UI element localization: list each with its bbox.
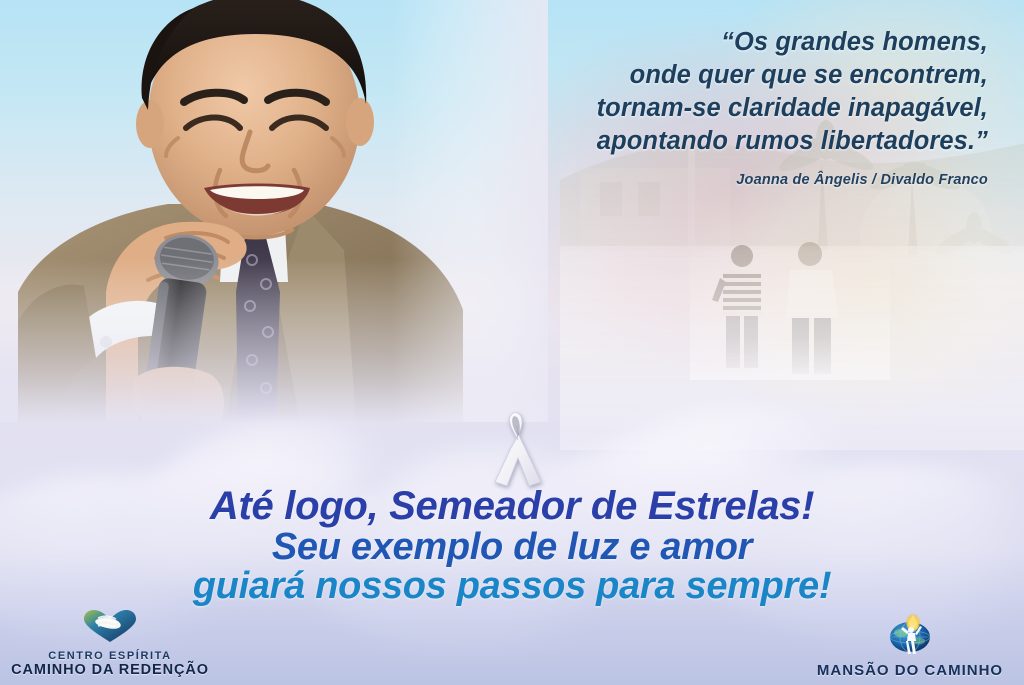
quote-line-2: onde quer que se encontrem,	[428, 59, 988, 92]
logo-left-line-1: CENTRO ESPÍRITA	[10, 650, 210, 662]
memorial-poster: “Os grandes homens, onde quer que se enc…	[0, 0, 1024, 685]
quote-text: “Os grandes homens, onde quer que se enc…	[428, 26, 988, 159]
logo-centro-espirita: CENTRO ESPÍRITA CAMINHO DA REDENÇÃO	[10, 609, 210, 679]
quote-line-3: tornam-se claridade inapagável,	[428, 92, 988, 125]
walking-figures	[690, 240, 890, 380]
quote-line-4: apontando rumos libertadores.”	[428, 125, 988, 158]
quote-line-1: “Os grandes homens,	[428, 26, 988, 59]
logo-left-line-2: CAMINHO DA REDENÇÃO	[10, 662, 210, 679]
logo-right-line-1: MANSÃO DO CAMINHO	[810, 662, 1010, 679]
headline-message: Até logo, Semeador de Estrelas! Seu exem…	[0, 486, 1024, 607]
white-ribbon-icon	[487, 410, 549, 486]
heart-hands-icon	[10, 609, 210, 648]
logo-mansao-do-caminho: MANSÃO DO CAMINHO	[810, 613, 1010, 679]
quote-attribution: Joanna de Ângelis / Divaldo Franco	[428, 172, 988, 188]
headline-line-1: Até logo, Semeador de Estrelas!	[0, 486, 1024, 528]
headline-line-2: Seu exemplo de luz e amor	[0, 528, 1024, 568]
headline-line-3: guiará nossos passos para sempre!	[0, 567, 1024, 607]
globe-figure-torch-icon	[810, 613, 1010, 660]
